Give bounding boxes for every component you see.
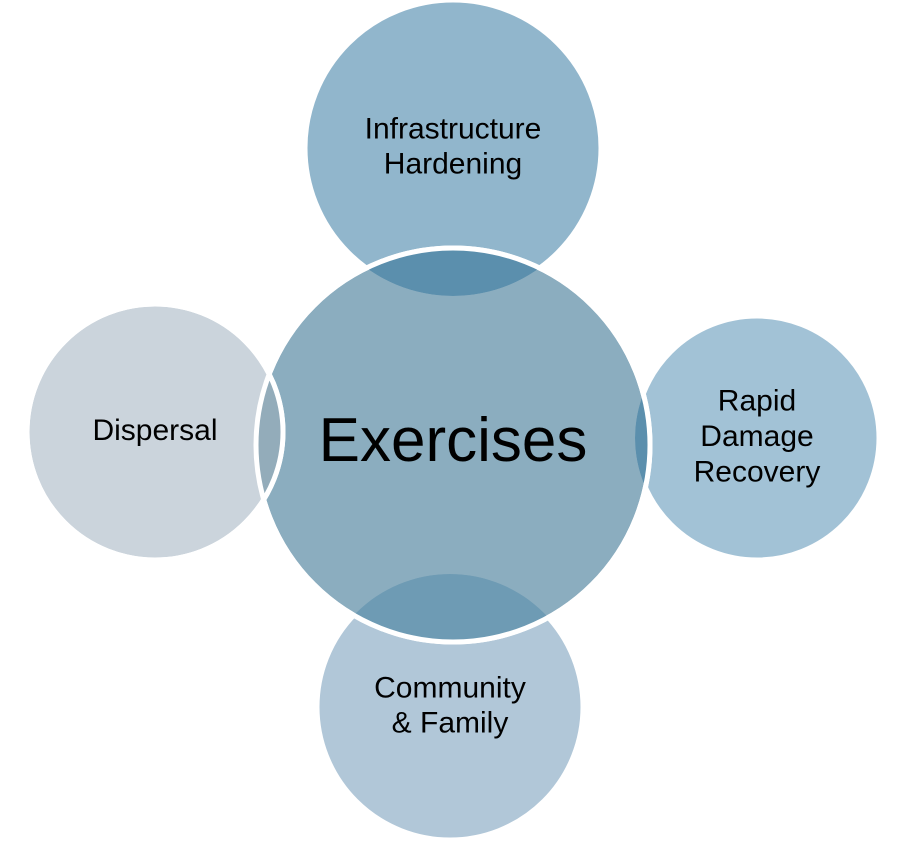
diagram-canvas: Exercises InfrastructureHardening RapidD… bbox=[0, 0, 907, 845]
circle-rapid-damage-recovery[interactable] bbox=[635, 316, 879, 560]
venn-diagram: Exercises InfrastructureHardening RapidD… bbox=[0, 0, 907, 845]
